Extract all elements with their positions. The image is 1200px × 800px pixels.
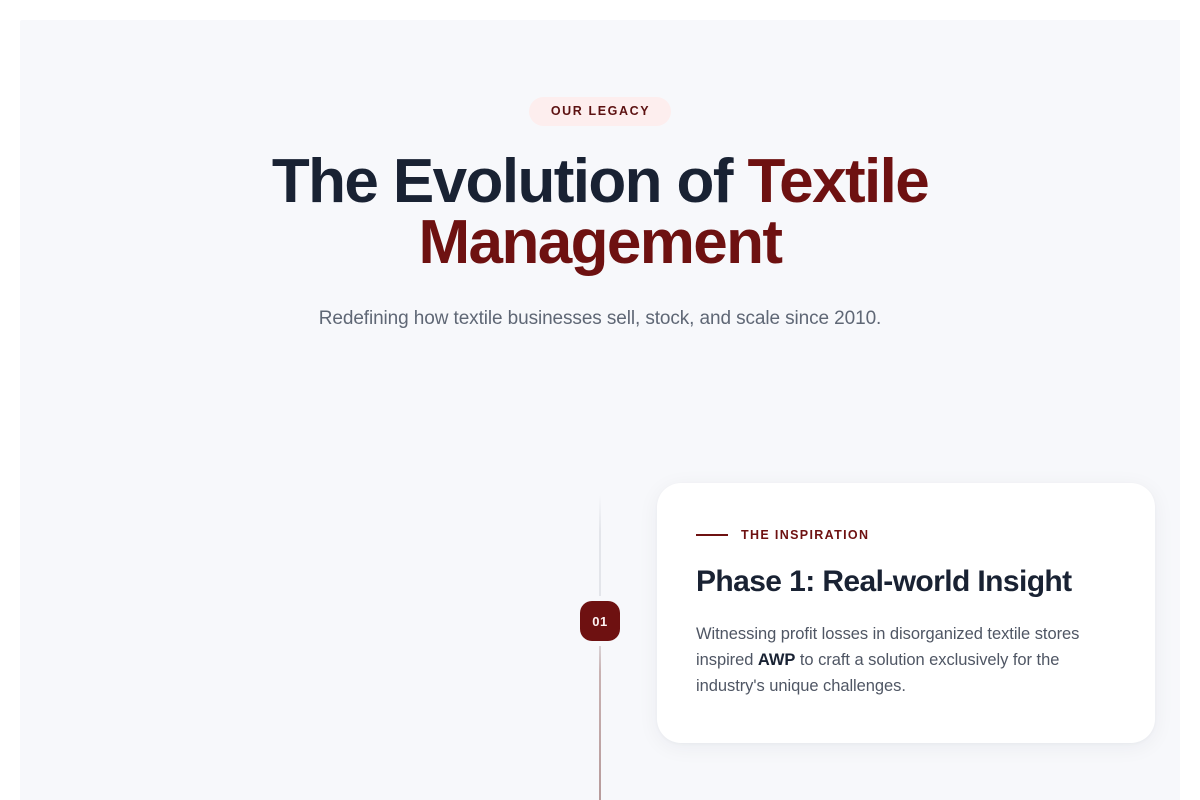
timeline-card[interactable]: THE INSPIRATION Phase 1: Real-world Insi… (657, 483, 1155, 743)
timeline-section: 01 THE INSPIRATION Phase 1: Real-world I… (20, 465, 1180, 800)
hero-section: OUR LEGACY The Evolution of Textile Mana… (20, 20, 1180, 333)
card-title: Phase 1: Real-world Insight (696, 564, 1115, 600)
page-subtitle: Redefining how textile businesses sell, … (20, 305, 1180, 333)
timeline-marker-01[interactable]: 01 (580, 601, 620, 641)
page-title-lead: The Evolution of (272, 147, 748, 216)
card-body-emphasis: AWP (758, 651, 795, 669)
card-body: Witnessing profit losses in disorganized… (696, 621, 1115, 699)
timeline-axis-line (599, 495, 601, 800)
page-title: The Evolution of Textile Management (20, 151, 1180, 273)
kicker-rule-icon (696, 534, 728, 536)
card-kicker-label: THE INSPIRATION (741, 529, 869, 542)
card-kicker: THE INSPIRATION (696, 528, 1115, 542)
page-container: OUR LEGACY The Evolution of Textile Mana… (20, 20, 1180, 800)
eyebrow-badge: OUR LEGACY (529, 97, 671, 126)
